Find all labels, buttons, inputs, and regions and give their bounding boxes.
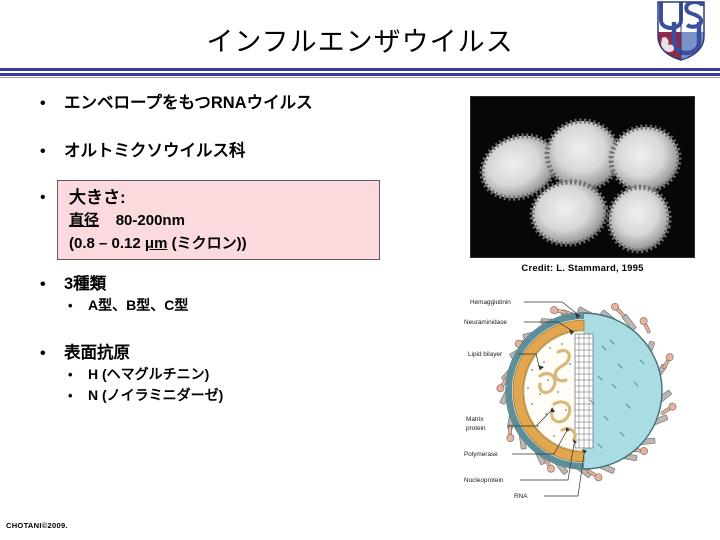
page-title: インフルエンザウイルス bbox=[0, 24, 720, 60]
subbullet-hemagglutinin: • H (ヘマグルチニン) bbox=[30, 364, 450, 385]
bullet-marker: • bbox=[68, 295, 73, 316]
size-diameter-label: 直径 bbox=[69, 212, 99, 229]
spacer bbox=[30, 266, 450, 273]
header-rule-bottom bbox=[0, 73, 720, 76]
size-highlight-row: • 大きさ: 直径 80-200nm (0.8 – 0.12 μm (ミクロン)… bbox=[30, 180, 450, 266]
size-micron-prefix: (0.8 – 0.12 bbox=[69, 235, 145, 252]
electron-micrograph-influenza bbox=[470, 96, 695, 258]
label-polymerase: Polymerase bbox=[464, 451, 498, 458]
label-rna: RNA bbox=[514, 493, 528, 500]
bullet-marker: • bbox=[40, 274, 46, 296]
slide: インフルエンザウイルス bbox=[0, 0, 720, 540]
bullet-surface-antigens: • 表面抗原 bbox=[30, 342, 450, 364]
subbullet-label: H (ヘマグルチニン) bbox=[88, 366, 209, 382]
size-micron-unit: μm bbox=[145, 235, 168, 252]
footer-copyright: CHOTANI©2009. bbox=[6, 521, 68, 530]
size-highlight-box: 大きさ: 直径 80-200nm (0.8 – 0.12 μm (ミクロン)) bbox=[57, 180, 380, 260]
bullet-label: 表面抗原 bbox=[64, 344, 130, 362]
size-micron-suffix: (ミクロン)) bbox=[167, 235, 246, 252]
bullet-marker: • bbox=[40, 93, 46, 115]
label-matrix-protein-2: protein bbox=[466, 425, 486, 432]
bullet-list: • エンベロープをもつRNAウイルス • オルトミクソウイルス科 • 大きさ: … bbox=[30, 92, 450, 406]
bullet-marker: • bbox=[40, 189, 46, 207]
size-micron-line: (0.8 – 0.12 μm (ミクロン)) bbox=[69, 232, 379, 255]
label-nucleoprotein: Nucleoprotein bbox=[464, 477, 504, 484]
label-hemagglutinin: Hemagglutinin bbox=[470, 299, 511, 306]
subbullet-type-list: • A型、B型、C型 bbox=[30, 295, 450, 316]
bullet-envelope-rna: • エンベロープをもつRNAウイルス bbox=[30, 92, 450, 114]
micrograph-credit: Credit: L. Stammard, 1995 bbox=[470, 263, 695, 274]
usu-shield-logo bbox=[656, 0, 706, 62]
label-matrix-protein: Matrix bbox=[466, 416, 484, 423]
bullet-orthomyxoviridae: • オルトミクソウイルス科 bbox=[30, 140, 450, 162]
subbullet-label: N (ノイラミニダーゼ) bbox=[88, 387, 223, 403]
bullet-marker: • bbox=[68, 364, 73, 385]
subbullet-neuraminidase: • N (ノイラミニダーゼ) bbox=[30, 385, 450, 406]
bullet-marker: • bbox=[40, 343, 46, 365]
bullet-three-types: • 3種類 bbox=[30, 273, 450, 295]
bullet-label: オルトミクソウイルス科 bbox=[64, 142, 246, 160]
label-neuraminidase: Neuraminidase bbox=[464, 319, 507, 326]
size-diameter-line: 直径 80-200nm bbox=[69, 209, 379, 232]
bullet-marker: • bbox=[68, 385, 73, 406]
bullet-marker: • bbox=[40, 141, 46, 163]
influenza-virion-cutaway-diagram: Hemagglutinin Neuraminidase Lipid bilaye… bbox=[462, 284, 710, 509]
spacer bbox=[30, 316, 450, 342]
size-diameter-value: 80-200nm bbox=[116, 212, 185, 229]
bullet-label: エンベロープをもつRNAウイルス bbox=[64, 94, 313, 112]
spacer bbox=[30, 114, 450, 140]
spacer bbox=[30, 162, 450, 180]
subbullet-label: A型、B型、C型 bbox=[88, 297, 188, 313]
size-title: 大きさ: bbox=[69, 186, 379, 209]
label-lipid-bilayer: Lipid bilayer bbox=[468, 351, 503, 358]
bullet-label: 3種類 bbox=[64, 275, 106, 293]
header-rule-thin bbox=[0, 77, 720, 78]
